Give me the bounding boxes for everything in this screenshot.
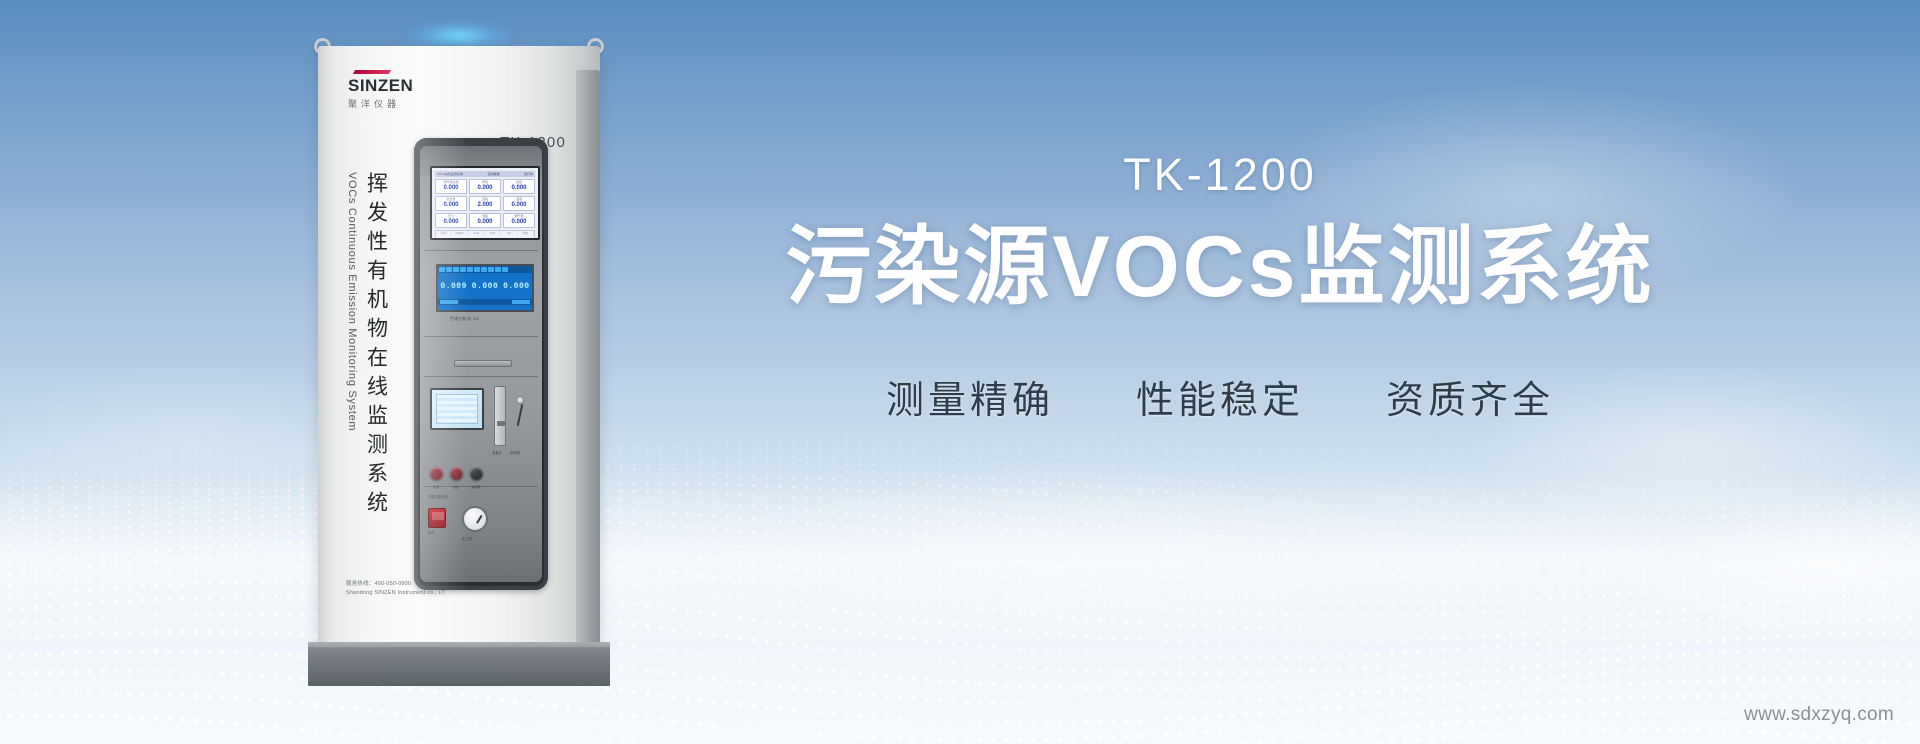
- analyzer-value: 0.009: [440, 282, 467, 291]
- hmi-footer-col: 时间: [436, 231, 452, 236]
- service-hotline-plate: 服务热线：400-050-0900 Shandong SINZEN Instru…: [346, 580, 445, 598]
- analyzer-value: 0.000: [503, 282, 530, 291]
- hmi-status: 运行中: [524, 172, 533, 176]
- controller-mini-screen[interactable]: [430, 388, 484, 430]
- hmi-cell-value: 0.000: [470, 219, 500, 226]
- hmi-readout-cell: 氧含量0.000: [435, 196, 467, 211]
- estop-label: 急停: [428, 530, 435, 535]
- hmi-readout-grid: 非甲烷总烃0.000甲烷0.000总烃0.000氧含量0.000流速2.000温…: [435, 179, 535, 228]
- door-divider: [424, 336, 538, 337]
- site-watermark: www.sdxzyq.com: [1744, 704, 1894, 726]
- hmi-footer-row: 时间NMHCCH4THCO2状态: [436, 231, 534, 236]
- emergency-stop-button[interactable]: [428, 508, 446, 528]
- hmi-readout-cell: 甲烷0.000: [469, 179, 501, 194]
- door-handle-slot[interactable]: [454, 360, 512, 367]
- door-divider: [424, 250, 538, 251]
- hmi-footer-table: 时间NMHCCH4THCO2状态: [435, 230, 535, 240]
- pump-knob[interactable]: [470, 467, 483, 480]
- banner-feature-list: 测量精确性能稳定资质齐全: [690, 369, 1750, 424]
- logo-slash-icon: [353, 70, 391, 74]
- vertical-title-en: VOCs Continuous Emission Monitoring Syst…: [346, 172, 358, 431]
- mini-screen-content: [436, 394, 478, 424]
- hmi-footer-col: 状态: [518, 231, 534, 236]
- valve-knob[interactable]: [516, 396, 524, 404]
- feature-item-0: 测量精确: [886, 369, 1054, 424]
- feature-item-2: 资质齐全: [1386, 369, 1554, 424]
- valve-lever[interactable]: [517, 404, 524, 426]
- cloud-haze: [1560, 470, 1920, 670]
- hmi-cell-value: 0.000: [470, 185, 500, 192]
- hmi-footer-col: O2: [501, 231, 517, 236]
- cabinet-glass-door: VOCs在线监测系统 实时数据 运行中 非甲烷总烃0.000甲烷0.000总烃0…: [414, 138, 548, 590]
- hmi-cell-value: 0.000: [504, 219, 534, 226]
- hmi-cell-value: 0.000: [504, 202, 534, 209]
- analyzer-value: 0.000: [472, 282, 499, 291]
- product-cabinet: SINZEN 聚洋仪器 TK-1200 挥发性有机物在线监测系统 VOCs Co…: [318, 22, 600, 686]
- gas-panel-label: 气路控制单元: [428, 494, 448, 499]
- hmi-cell-value: 0.000: [436, 202, 466, 209]
- hmi-cell-value: 0.000: [436, 185, 466, 192]
- cabinet-body: SINZEN 聚洋仪器 TK-1200 挥发性有机物在线监测系统 VOCs Co…: [318, 46, 600, 642]
- rotameter-label: 流量计: [492, 450, 502, 455]
- hmi-touchscreen[interactable]: VOCs在线监测系统 实时数据 运行中 非甲烷总烃0.000甲烷0.000总烃0…: [430, 166, 540, 240]
- hmi-readout-cell: 流速2.000: [469, 196, 501, 211]
- dot-wave-graphic: [0, 414, 1920, 744]
- horizon-glow: [0, 470, 1920, 640]
- analyzer-toolbar: [438, 266, 532, 273]
- hmi-title: VOCs在线监测系统: [437, 172, 463, 176]
- banner-model-number: TK-1200: [690, 150, 1750, 200]
- hmi-footer-col: NMHC: [452, 231, 468, 236]
- heater-knob[interactable]: [450, 467, 463, 480]
- power-knob[interactable]: [430, 467, 443, 480]
- pressure-gauge: [462, 506, 488, 532]
- door-divider: [424, 376, 538, 377]
- cabinet-base-plinth: [308, 642, 610, 686]
- hmi-cell-value: 2.000: [470, 202, 500, 209]
- hmi-subtitle: 实时数据: [487, 172, 499, 176]
- analyzer-caption: 色谱分析仪 GC: [450, 316, 480, 322]
- gas-control-panel: 气路控制单元 急停 压力表: [426, 490, 536, 568]
- door-interior: VOCs在线监测系统 实时数据 运行中 非甲烷总烃0.000甲烷0.000总烃0…: [420, 146, 542, 582]
- hmi-titlebar: VOCs在线监测系统 实时数据 运行中: [435, 171, 535, 177]
- service-line-2: Shandong SINZEN Instrument co., LT: [346, 589, 445, 598]
- analyzer-caption-cn: 色谱分析仪: [450, 316, 472, 321]
- hmi-footer-col: THC: [485, 231, 501, 236]
- sinzen-logo: SINZEN 聚洋仪器: [348, 70, 440, 110]
- analyzer-statusbar: [438, 299, 532, 305]
- banner-headline: 污染源VOCs监测系统: [690, 218, 1750, 318]
- logo-chinese-name: 聚洋仪器: [348, 97, 440, 110]
- feature-item-1: 性能稳定: [1136, 369, 1304, 424]
- led-glow: [384, 12, 534, 46]
- hmi-cell-value: 0.000: [504, 185, 534, 192]
- product-banner: SINZEN 聚洋仪器 TK-1200 挥发性有机物在线监测系统 VOCs Co…: [0, 0, 1920, 744]
- valve-label: 切换阀: [510, 450, 520, 455]
- hmi-readout-cell: 总烃0.000: [503, 179, 535, 194]
- cloud-haze: [620, 430, 1520, 670]
- hmi-readout-cell: 温度0.000: [503, 196, 535, 211]
- hmi-cell-value: 0.000: [436, 219, 466, 226]
- cabinet-side-panel: [576, 70, 600, 666]
- vertical-title-cn: 挥发性有机物在线监测系统: [364, 172, 388, 520]
- hmi-readout-cell: 非甲烷总烃0.000: [435, 179, 467, 194]
- hmi-readout-cell: 烟气量0.000: [503, 213, 535, 228]
- service-line-1: 服务热线：400-050-0900: [346, 580, 445, 589]
- door-divider: [424, 486, 538, 487]
- analyzer-caption-en: GC: [473, 316, 480, 321]
- banner-text-block: TK-1200 污染源VOCs监测系统 测量精确性能稳定资质齐全: [690, 150, 1750, 424]
- logo-wordmark: SINZEN: [348, 77, 440, 94]
- hmi-readout-cell: 湿度0.000: [469, 213, 501, 228]
- analyzer-values: 0.0090.0000.000: [438, 273, 532, 299]
- control-panel: 电源 加热 采样泵 流量计 切换阀: [426, 382, 536, 482]
- rotameter-flow-gauge: [494, 386, 506, 446]
- hmi-readout-cell: 压力0.000: [435, 213, 467, 228]
- cabinet-vertical-title: 挥发性有机物在线监测系统 VOCs Continuous Emission Mo…: [346, 172, 388, 572]
- hmi-footer-col: CH4: [469, 231, 485, 236]
- gauge-label: 压力表: [462, 536, 472, 541]
- analyzer-display: 0.0090.0000.000: [436, 264, 534, 312]
